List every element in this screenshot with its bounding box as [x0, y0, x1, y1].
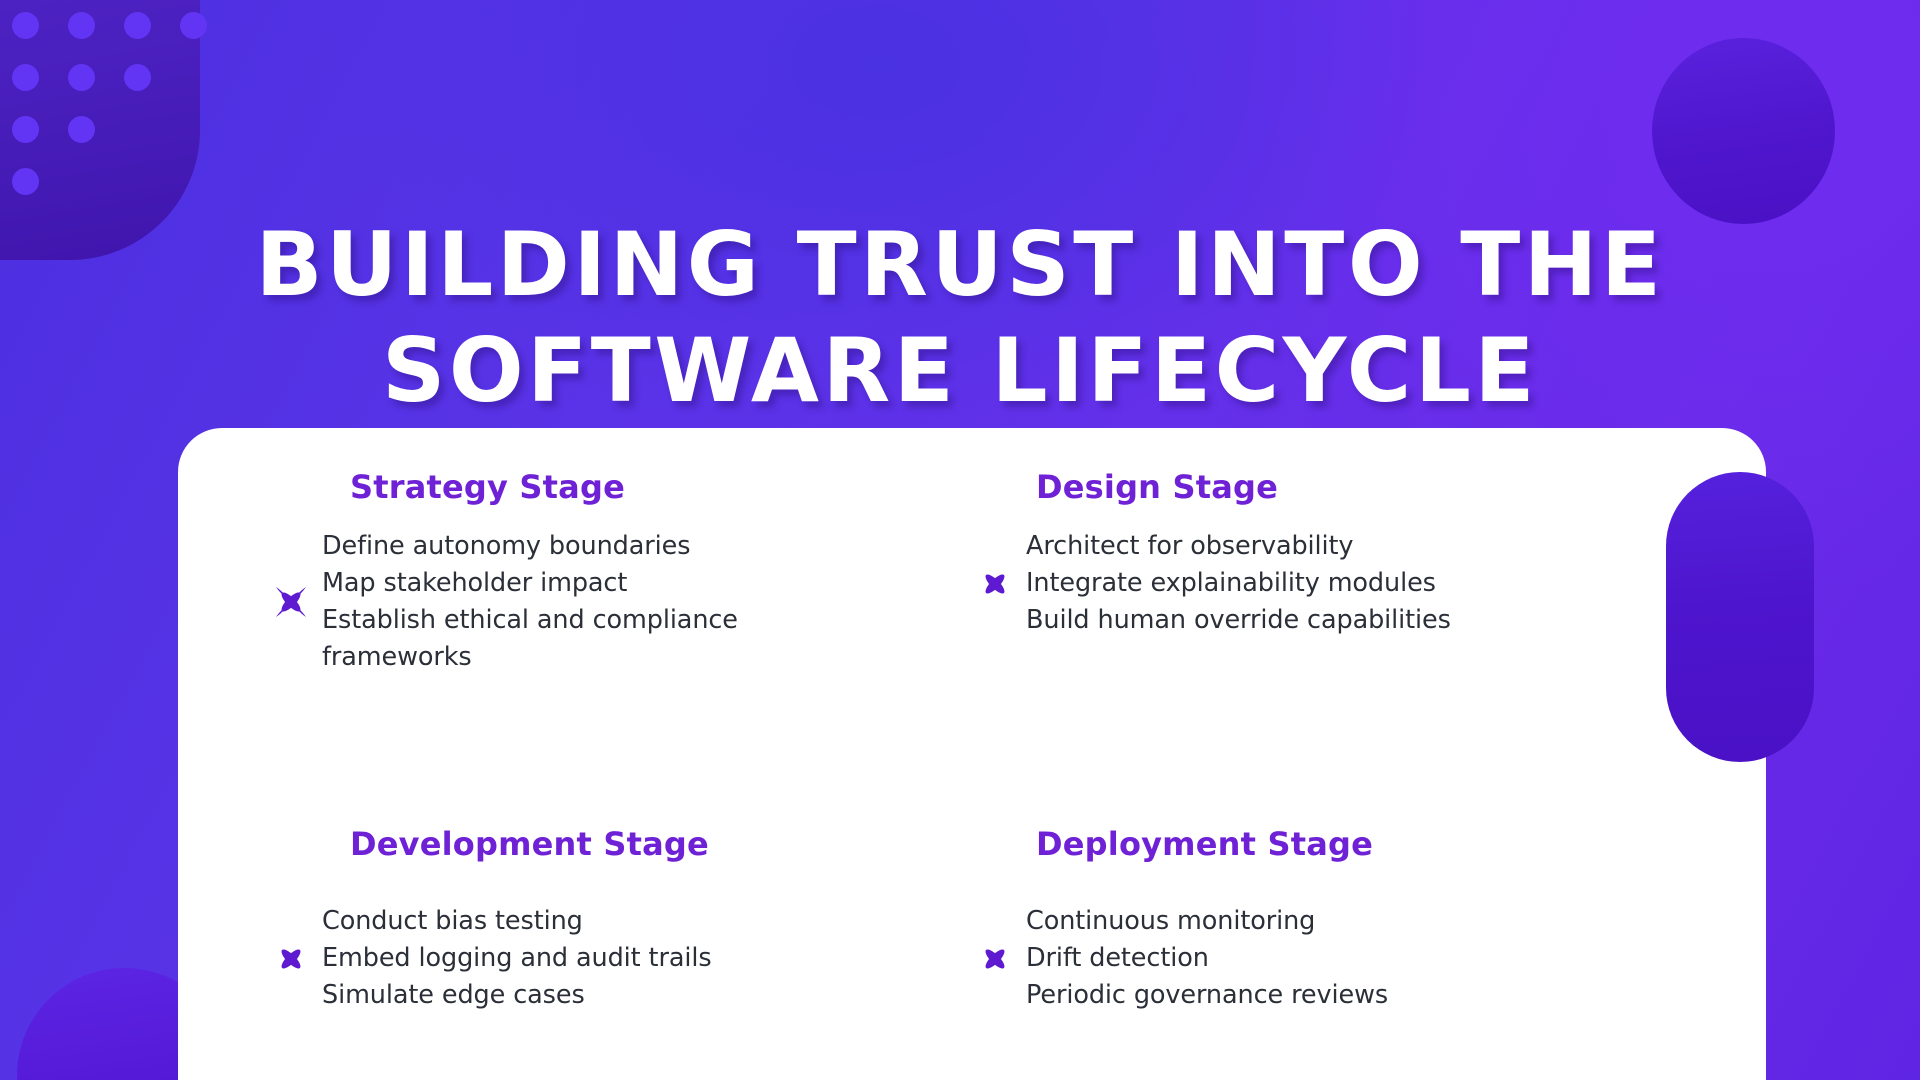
- stage-block-deployment: Deployment Stage Continuous monitoring D…: [972, 773, 1706, 1080]
- grid-dot: [68, 116, 95, 143]
- stage-item: Drift detection: [1026, 940, 1388, 977]
- stage-item: Integrate explainability modules: [1026, 565, 1451, 602]
- stage-items-strategy: Define autonomy boundaries Map stakehold…: [322, 528, 842, 676]
- stage-heading-design: Design Stage: [972, 468, 1706, 506]
- grid-dot: [124, 12, 151, 39]
- stage-heading-development: Development Stage: [238, 825, 972, 863]
- stage-item: Conduct bias testing: [322, 903, 712, 940]
- stage-block-strategy: Strategy Stage: [238, 466, 972, 773]
- page-title-line-1: BUILDING TRUST INTO THE: [0, 212, 1920, 318]
- stage-item: Map stakeholder impact: [322, 565, 842, 602]
- stage-items-development: Conduct bias testing Embed logging and a…: [322, 903, 712, 1014]
- four-point-star-icon: [972, 936, 1018, 982]
- grid-dot: [12, 168, 39, 195]
- stage-item: Continuous monitoring: [1026, 903, 1388, 940]
- page-title: BUILDING TRUST INTO THE SOFTWARE LIFECYC…: [0, 212, 1920, 424]
- grid-dot: [68, 64, 95, 91]
- page-title-line-2: SOFTWARE LIFECYCLE: [0, 318, 1920, 424]
- stage-item: Architect for observability: [1026, 528, 1451, 565]
- stage-body-deployment: Continuous monitoring Drift detection Pe…: [972, 903, 1706, 1014]
- stage-heading-deployment: Deployment Stage: [972, 825, 1706, 863]
- stage-item: Build human override capabilities: [1026, 602, 1451, 639]
- stage-item: Establish ethical and compliance framewo…: [322, 602, 842, 676]
- grid-dot: [180, 12, 207, 39]
- grid-dot: [12, 116, 39, 143]
- content-card: Strategy Stage: [178, 428, 1766, 1080]
- grid-dot: [68, 12, 95, 39]
- four-point-star-icon: [268, 936, 314, 982]
- stage-item: Embed logging and audit trails: [322, 940, 712, 977]
- stage-body-development: Conduct bias testing Embed logging and a…: [238, 903, 972, 1014]
- infographic-canvas: BUILDING TRUST INTO THE SOFTWARE LIFECYC…: [0, 0, 1920, 1080]
- stage-heading-strategy: Strategy Stage: [238, 468, 972, 506]
- dot-grid-decoration: [8, 8, 208, 198]
- stage-items-design: Architect for observability Integrate ex…: [1026, 528, 1451, 639]
- stage-items-deployment: Continuous monitoring Drift detection Pe…: [1026, 903, 1388, 1014]
- stage-block-development: Development Stage Conduct bias testing E…: [238, 773, 972, 1080]
- stage-body-strategy: Define autonomy boundaries Map stakehold…: [238, 528, 972, 676]
- stage-item: Periodic governance reviews: [1026, 977, 1388, 1014]
- stage-body-design: Architect for observability Integrate ex…: [972, 528, 1706, 639]
- four-point-star-icon: [268, 579, 314, 625]
- four-point-star-icon: [972, 561, 1018, 607]
- grid-dot: [12, 64, 39, 91]
- stage-item: Define autonomy boundaries: [322, 528, 842, 565]
- grid-dot: [124, 64, 151, 91]
- stage-grid: Strategy Stage: [178, 428, 1766, 1080]
- grid-dot: [12, 12, 39, 39]
- stage-block-design: Design Stage Architect for observability…: [972, 466, 1706, 773]
- stage-item: Simulate edge cases: [322, 977, 712, 1014]
- circle-decoration-top-right: [1652, 38, 1835, 224]
